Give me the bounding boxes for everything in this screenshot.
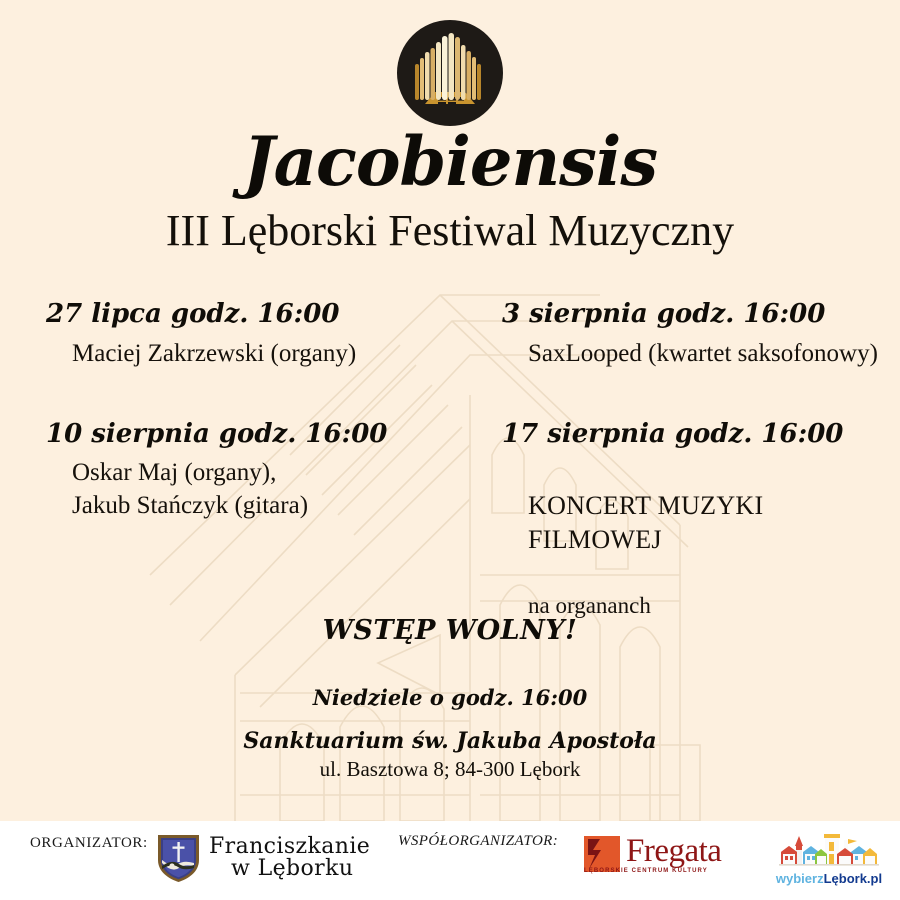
organizer-label: ORGANIZATOR: [30, 835, 148, 852]
coorganizer-logo-wybierzlebork[interactable]: wybierzLębork.pl [772, 830, 886, 885]
venue-name: Sanktuarium św. Jakuba Apostoła [0, 728, 900, 754]
festival-title: Jacobiensis [0, 128, 900, 195]
fregata-name: Fregata [626, 836, 721, 867]
festival-poster: Jacobiensis III Lęborski Festiwal Muzycz… [0, 0, 900, 900]
festival-logo [0, 18, 900, 128]
event-date: 3 sierpnia godz. 16:00 [480, 298, 892, 331]
event-performer: SaxLooped (kwartet saksofonowy) [480, 331, 892, 370]
organizer-logo-text: Franciszkanie w Lęborku [209, 836, 370, 881]
fregata-subtitle: LĘBORSKIE CENTRUM KULTURY [584, 868, 754, 874]
event-performer: Maciej Zakrzewski (organy) [24, 331, 452, 370]
fregata-wordmark: Fregata LĘBORSKIE CENTRUM KULTURY [626, 836, 721, 867]
event-item: 27 lipca godz. 16:00 Maciej Zakrzewski (… [18, 298, 458, 370]
event-date: 10 sierpnia godz. 16:00 [24, 418, 452, 451]
coorganizer-label: WSPÓŁORGANIZATOR: [398, 833, 558, 850]
organizer-logo-line2: w Lęborku [209, 858, 370, 880]
lebork-town-icon [777, 830, 881, 870]
organ-pipes-icon [395, 18, 505, 128]
lebork-word-part2: Lębork.pl [824, 871, 883, 886]
fregata-mark-icon [584, 836, 620, 872]
festival-subtitle: III Lęborski Festiwal Muzyczny [0, 208, 900, 254]
schedule-note: Niedziele o godz. 16:00 [0, 685, 900, 710]
event-date: 17 sierpnia godz. 16:00 [480, 418, 892, 451]
poster-footer: ORGANIZATOR: WSPÓŁORGANIZATOR: [0, 821, 900, 900]
franciscan-shield-icon [155, 832, 202, 884]
poster-main-panel: Jacobiensis III Lęborski Festiwal Muzycz… [0, 0, 900, 821]
event-performer: Oskar Maj (organy), Jakub Stańczyk (gita… [24, 450, 452, 522]
event-list: 27 lipca godz. 16:00 Maciej Zakrzewski (… [0, 298, 900, 654]
event-item: 3 sierpnia godz. 16:00 SaxLooped (kwarte… [458, 298, 898, 370]
lebork-word-part1: wybierz [776, 871, 824, 886]
organizer-logo-line1: Franciszkanie [209, 836, 370, 858]
free-entry-notice: WSTĘP WOLNY! [0, 615, 900, 646]
event-performer-title: KONCERT MUZYKI FILMOWEJ [528, 489, 892, 558]
lebork-wordmark: wybierzLębork.pl [772, 872, 886, 885]
venue-address: ul. Basztowa 8; 84-300 Lębork [0, 757, 900, 782]
coorganizer-logo-fregata[interactable]: Fregata LĘBORSKIE CENTRUM KULTURY [584, 836, 721, 872]
event-date: 27 lipca godz. 16:00 [24, 298, 452, 331]
organizer-logo-franciszkanie[interactable]: Franciszkanie w Lęborku [155, 832, 370, 884]
